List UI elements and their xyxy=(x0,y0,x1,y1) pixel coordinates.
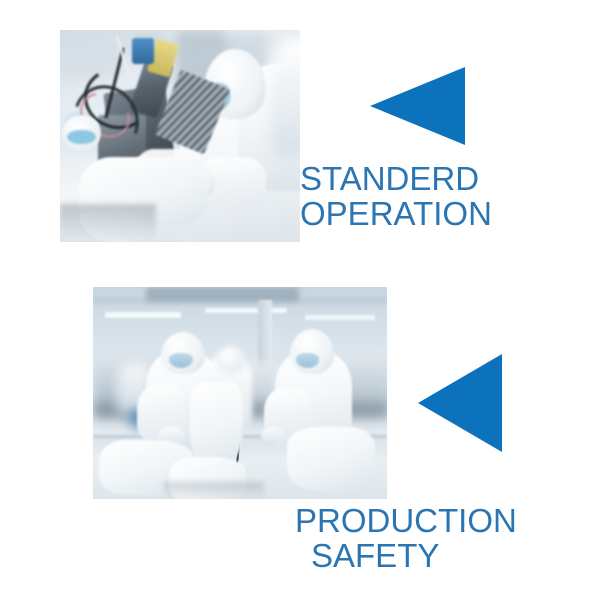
garment-center-large xyxy=(190,382,243,467)
ceiling-light-2 xyxy=(205,308,287,313)
photo-machine-operator xyxy=(60,30,300,242)
caption-standard-operation: STANDERD OPERATION xyxy=(300,161,492,232)
worker-right-mask xyxy=(296,353,320,368)
caption-line-2: OPERATION xyxy=(300,196,492,231)
background-worker xyxy=(271,38,300,157)
ceiling-light-3 xyxy=(305,315,376,320)
caption-line-2: SAFETY xyxy=(295,538,517,573)
caption-line-1: PRODUCTION xyxy=(295,503,517,538)
caption-line-1: STANDERD xyxy=(300,161,492,196)
ceiling-duct xyxy=(146,287,299,302)
worker-right-glove xyxy=(261,427,285,444)
garment-right xyxy=(287,427,375,491)
photo-workers-bench xyxy=(93,287,387,499)
caption-production-safety: PRODUCTION SAFETY xyxy=(295,503,517,574)
infographic-canvas: STANDERD OPERATION xyxy=(0,0,600,600)
worker-left-mask xyxy=(169,353,193,368)
machine-spool-blue xyxy=(132,38,154,63)
arrow-left-top xyxy=(370,67,465,145)
ceiling-light-1 xyxy=(105,312,181,318)
table-shadow xyxy=(60,204,156,242)
arrow-left-bottom xyxy=(418,354,502,452)
worker-center-hood xyxy=(216,346,245,374)
garment-shadow xyxy=(164,482,264,499)
